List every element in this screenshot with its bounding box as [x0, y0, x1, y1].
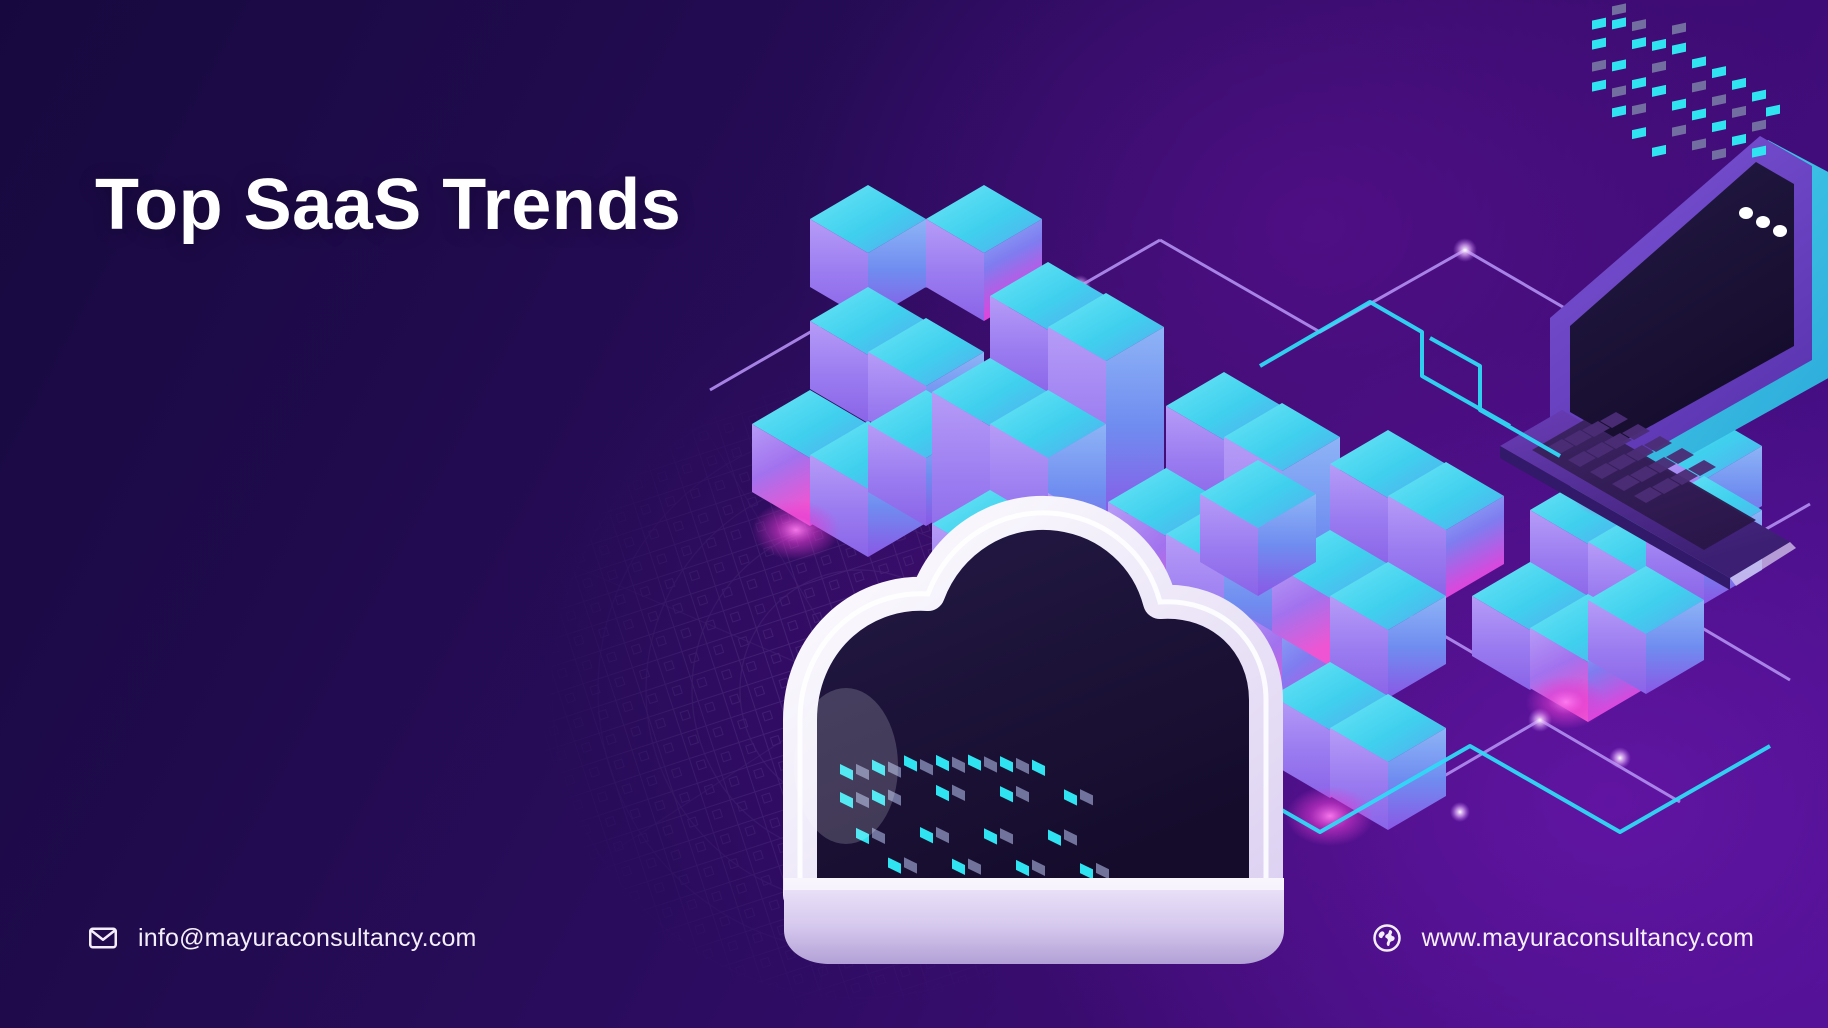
globe-icon [1372, 923, 1402, 953]
screen-code-pixels [1592, 3, 1780, 160]
isometric-saas-cloud-scene [560, 90, 1828, 920]
envelope-icon [88, 923, 118, 953]
footer-website-text: www.mayuraconsultancy.com [1422, 924, 1754, 953]
footer-email-text: info@mayuraconsultancy.com [138, 924, 477, 953]
footer-email[interactable]: info@mayuraconsultancy.com [88, 923, 477, 953]
footer-website[interactable]: www.mayuraconsultancy.com [1372, 923, 1754, 953]
banner-root: Top SaaS Trends [0, 0, 1828, 1028]
